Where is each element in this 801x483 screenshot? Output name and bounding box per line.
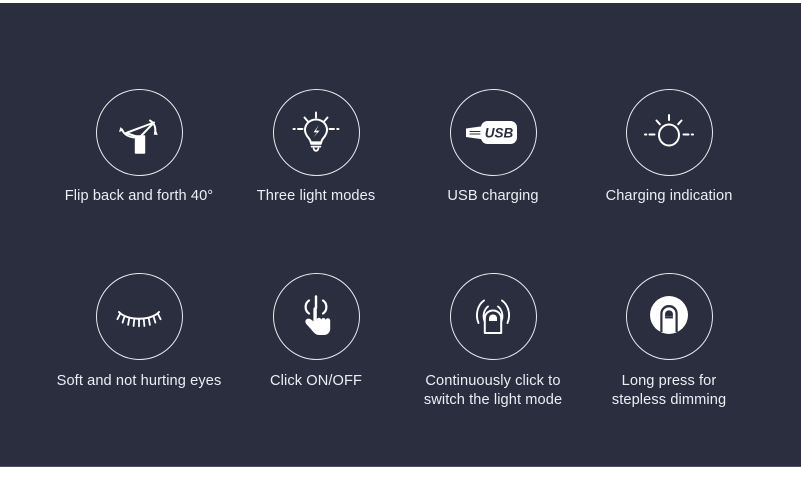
- feature-label: Three light modes: [216, 187, 416, 206]
- feature-label: Soft and not hurting eyes: [39, 372, 239, 391]
- feature-item-continuous-click-switch-mode[interactable]: Continuously click to switch the light m…: [393, 273, 593, 410]
- feature-label: Click ON/OFF: [216, 372, 416, 391]
- feature-label: Flip back and forth 40°: [39, 187, 239, 206]
- tilting-lamp-head-icon: [96, 89, 183, 176]
- sun-rays-indicator-icon: [626, 89, 713, 176]
- finger-tap-ripples-icon: [450, 273, 537, 360]
- finger-long-press-filled-icon: [626, 273, 713, 360]
- feature-item-flip-back-and-forth[interactable]: Flip back and forth 40°: [39, 89, 239, 206]
- feature-item-long-press-stepless-dimming[interactable]: Long press for stepless dimming: [569, 273, 769, 410]
- feature-item-click-on-off[interactable]: Click ON/OFF: [216, 273, 416, 391]
- feature-label: Long press for stepless dimming: [569, 372, 769, 410]
- feature-grid: Flip back and forth 40°: [0, 3, 801, 467]
- feature-item-soft-not-hurting-eyes[interactable]: Soft and not hurting eyes: [39, 273, 239, 391]
- feature-item-three-light-modes[interactable]: Three light modes: [216, 89, 416, 206]
- usb-plug-icon: USB: [450, 89, 537, 176]
- feature-label: Continuously click to switch the light m…: [393, 372, 593, 410]
- feature-label: USB charging: [393, 187, 593, 206]
- feature-label: Charging indication: [569, 187, 769, 206]
- feature-panel: Flip back and forth 40°: [0, 3, 801, 467]
- closed-eye-with-lashes-icon: [96, 273, 183, 360]
- hand-tap-power-button-icon: [273, 273, 360, 360]
- light-bulb-with-bolt-icon: [273, 89, 360, 176]
- feature-item-charging-indication[interactable]: Charging indication: [569, 89, 769, 206]
- feature-item-usb-charging[interactable]: USB USB charging: [393, 89, 593, 206]
- usb-icon-text: USB: [485, 125, 514, 140]
